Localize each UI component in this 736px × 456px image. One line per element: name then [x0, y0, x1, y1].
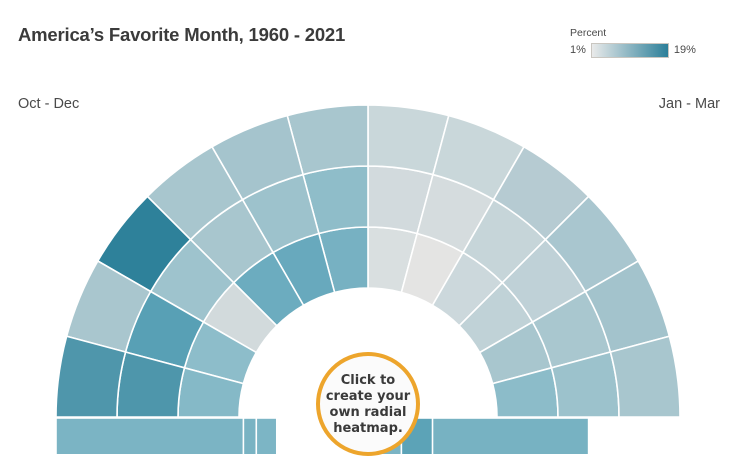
heatmap-cell[interactable] — [433, 418, 589, 454]
axis-label-left: Oct - Dec — [18, 96, 79, 112]
legend-title: Percent — [570, 28, 720, 40]
legend-gradient-bar — [591, 43, 669, 58]
heatmap-cell[interactable] — [56, 418, 243, 454]
legend: Percent 1% 19% — [570, 28, 720, 58]
page-title: America’s Favorite Month, 1960 - 2021 — [18, 24, 345, 46]
legend-scale: 1% 19% — [570, 43, 720, 58]
legend-max-label: 19% — [674, 45, 696, 56]
create-radial-heatmap-button[interactable]: Click to create your own radial heatmap. — [316, 352, 420, 456]
axis-label-right: Jan - Mar — [659, 96, 720, 112]
create-radial-heatmap-label: Click to create your own radial heatmap. — [322, 373, 414, 437]
legend-min-label: 1% — [570, 45, 586, 56]
